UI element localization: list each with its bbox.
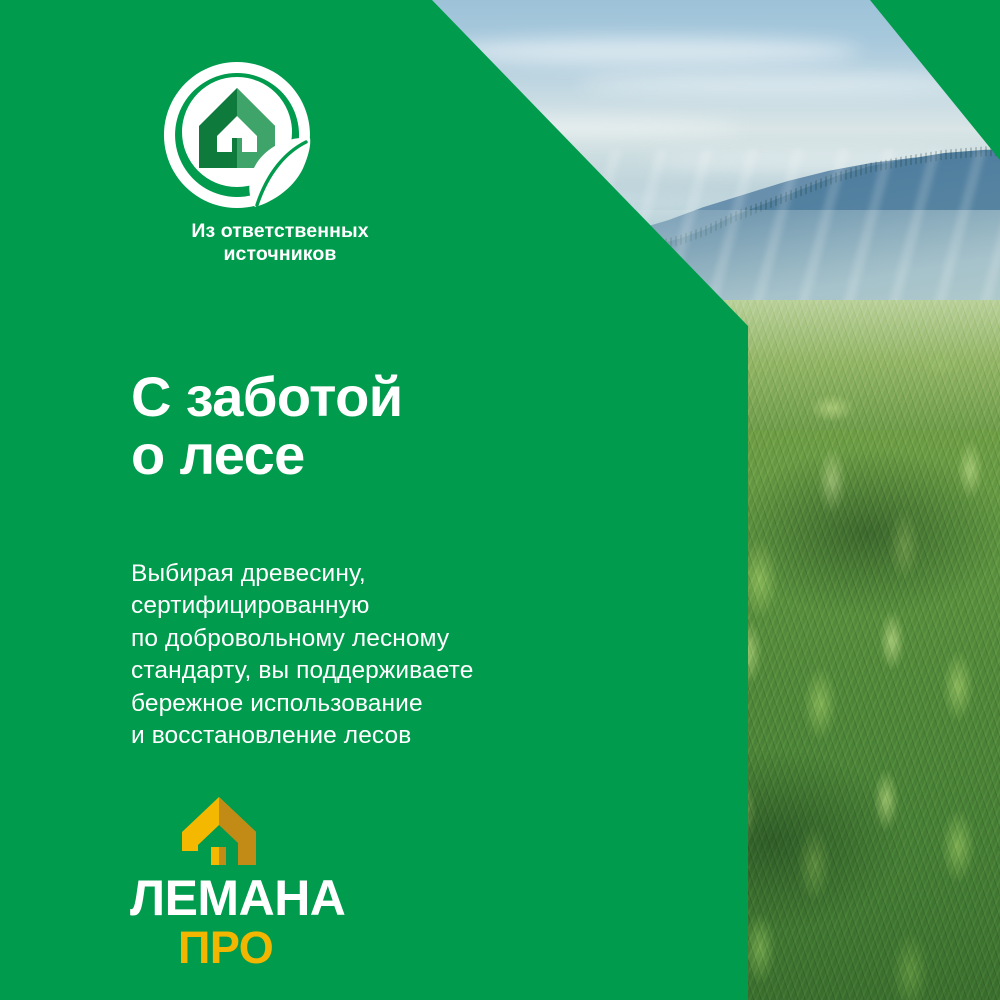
lemana-house-icon xyxy=(180,795,258,867)
headline: С заботой о лесе xyxy=(131,368,403,486)
poster-canvas: Из ответственных источников С заботой о … xyxy=(0,0,1000,1000)
content-layer: Из ответственных источников С заботой о … xyxy=(0,0,1000,1000)
responsible-sources-mark: Из ответственных источников xyxy=(130,60,430,265)
lemana-wordmark: ЛЕМАНА xyxy=(130,873,390,923)
body-copy: Выбирая древесину, сертифицированную по … xyxy=(131,558,473,753)
responsible-sources-emblem-icon xyxy=(162,60,312,210)
lemana-pro-logo: ЛЕМАНА ПРО xyxy=(130,795,390,970)
lemana-pro-suffix: ПРО xyxy=(178,925,390,970)
responsible-sources-caption: Из ответственных источников xyxy=(130,220,430,265)
